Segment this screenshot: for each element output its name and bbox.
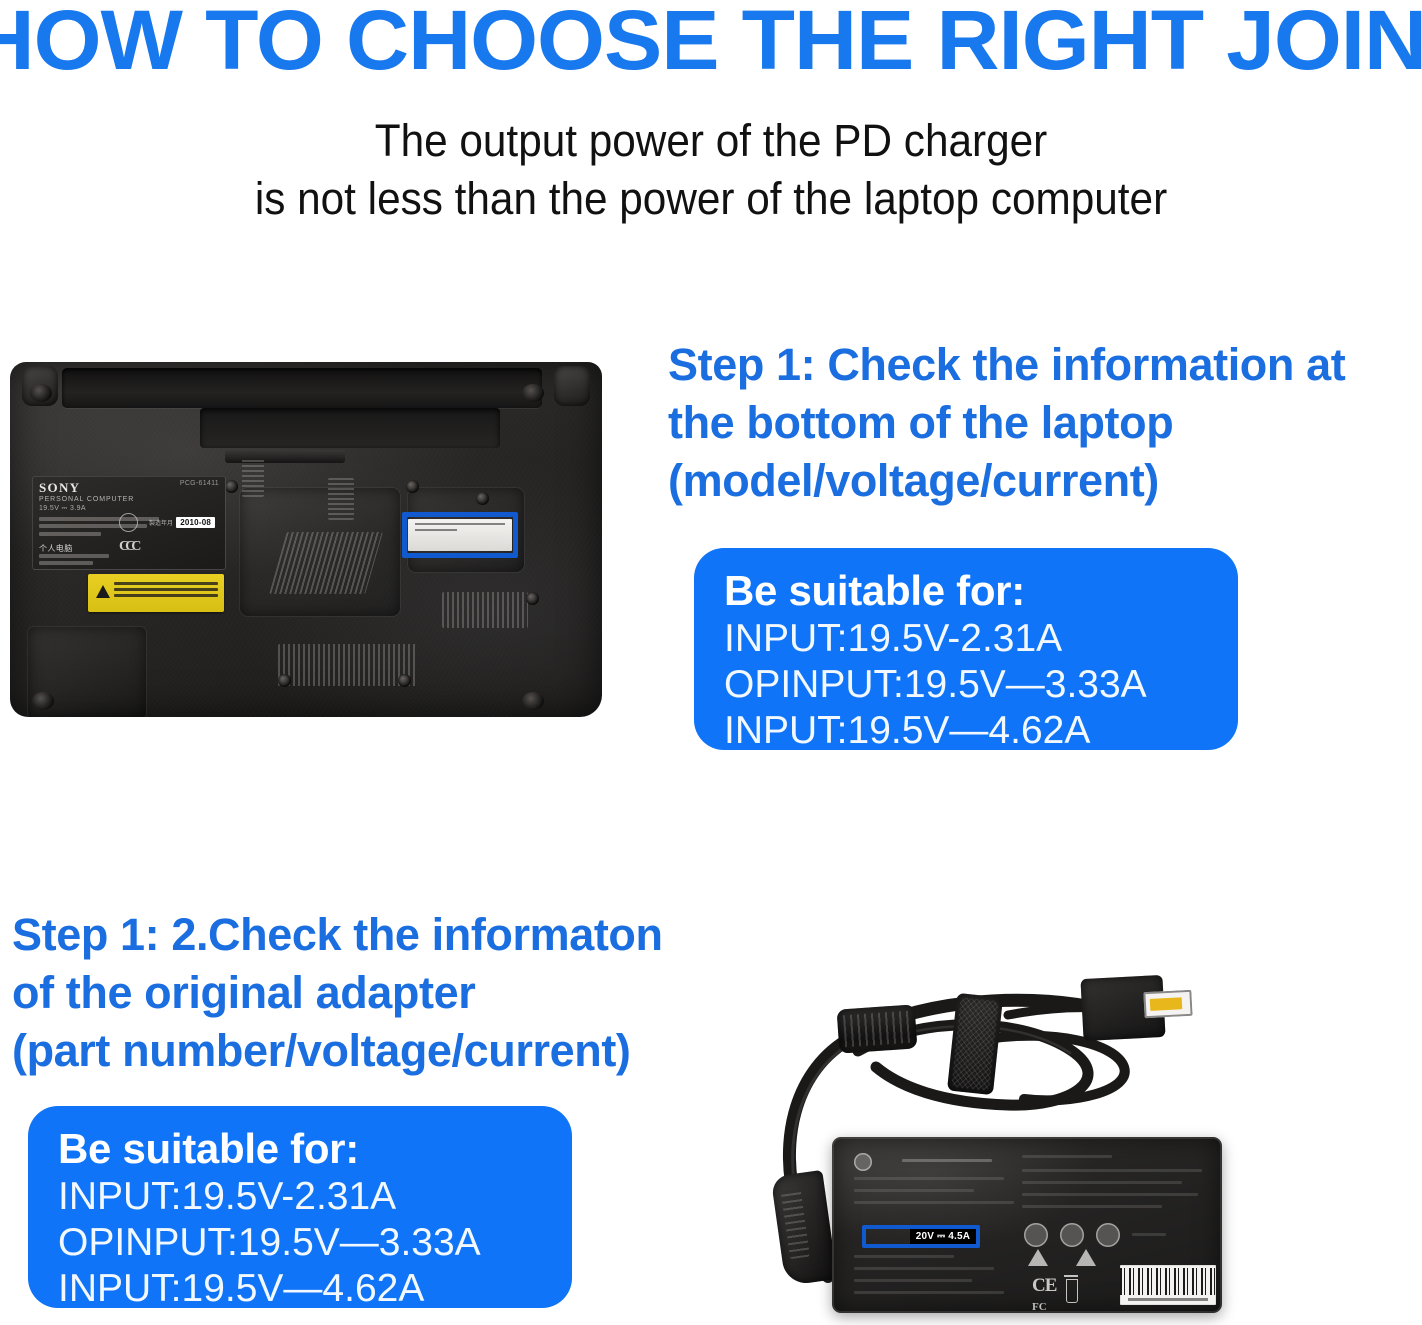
rubber-foot [30, 384, 52, 402]
brick-fineprint [854, 1279, 972, 1282]
step-1-box-title: Be suitable for: [724, 566, 1212, 616]
ce-mark-icon: CE [1032, 1275, 1056, 1297]
step-2-box-title: Be suitable for: [58, 1124, 546, 1174]
brick-fineprint [1132, 1233, 1166, 1236]
chassis-screw [476, 492, 489, 505]
brick-fineprint [1022, 1205, 1162, 1208]
brick-fineprint [854, 1189, 974, 1192]
safety-symbol-icon [1096, 1223, 1120, 1247]
subtitle-line-1: The output power of the PD charger [43, 112, 1380, 170]
caution-text-lines [114, 582, 218, 600]
chassis-screw [526, 592, 539, 605]
vent-grille [242, 457, 264, 497]
warning-triangle-icon [1076, 1249, 1096, 1266]
laptop-bottom-photo: SONY PCG-61411 PERSONAL COMPUTER 19.5V ⎓… [2, 352, 612, 724]
brick-fineprint [1022, 1155, 1112, 1158]
barcode [1120, 1265, 1216, 1305]
manufacture-date-caption: 製造年月 [149, 518, 173, 527]
safety-symbol-icon [1024, 1223, 1048, 1247]
adapter-spec-highlight-box [862, 1225, 980, 1248]
caution-sticker [88, 574, 224, 612]
step-2-heading-line-1: Step 1: 2.Check the informaton [12, 906, 752, 964]
brick-fineprint [902, 1159, 992, 1162]
step-1-suitable-box: Be suitable for: INPUT:19.5V-2.31A OPINP… [694, 548, 1238, 750]
ferrite-bead [837, 1004, 918, 1053]
warning-triangle-icon [1028, 1249, 1048, 1266]
label-locale-note: 个人电脑 [39, 543, 73, 554]
rubber-foot [32, 692, 54, 710]
brick-fineprint [1022, 1169, 1202, 1172]
brick-fineprint [854, 1255, 954, 1258]
rubber-foot [522, 384, 544, 402]
step-1-heading: Step 1: Check the information at the bot… [668, 336, 1422, 510]
chassis-screw [278, 674, 291, 687]
safety-symbol-icon [1060, 1223, 1084, 1247]
step-2-box-line-1: INPUT:19.5V-2.31A [58, 1174, 546, 1220]
manufacture-date-value: 2010-08 [176, 517, 215, 528]
chassis-screw [406, 480, 419, 493]
brick-fineprint [854, 1267, 994, 1270]
step-1-box-line-3: INPUT:19.5V—4.62A [724, 708, 1212, 754]
step-2-box-line-2: OPINPUT:19.5V—3.33A [58, 1220, 546, 1266]
laptop-chassis: SONY PCG-61411 PERSONAL COMPUTER 19.5V ⎓… [10, 362, 602, 717]
brick-fineprint [1022, 1193, 1198, 1196]
step-1-heading-line-2: the bottom of the laptop [668, 394, 1422, 452]
step-2-heading-line-2: of the original adapter [12, 964, 752, 1022]
label-fineprint [39, 532, 101, 536]
adapter-brick: CE FC 20V ⎓ 4.5A [832, 1137, 1222, 1313]
waste-bin-icon [1064, 1273, 1078, 1307]
laptop-voltage-current-text: 19.5V ⎓ 3.9A [39, 505, 86, 513]
sony-brand-text: SONY [39, 480, 80, 496]
chassis-screw [398, 674, 411, 687]
laptop-model-text: PCG-61411 [180, 480, 219, 487]
ac-adapter-photo: CE FC 20V ⎓ 4.5A [772, 955, 1420, 1323]
vent-grille [269, 532, 383, 594]
chassis-screw [225, 480, 238, 493]
vent-grille [442, 592, 528, 628]
certification-mark-icon [119, 513, 138, 532]
slim-tip-connector-icon [1143, 990, 1192, 1018]
brick-fineprint [854, 1201, 1014, 1204]
step-2-box-line-3: INPUT:19.5V—4.62A [58, 1266, 546, 1312]
step-1-heading-line-3: (model/voltage/current) [668, 452, 1422, 510]
label-fineprint [39, 561, 93, 565]
step-1-box-line-2: OPINPUT:19.5V—3.33A [724, 662, 1212, 708]
hinge-bar [62, 368, 542, 408]
ccc-mark-icon: CCC [119, 539, 137, 555]
brick-fineprint [854, 1291, 1004, 1294]
step-1-heading-line-1: Step 1: Check the information at [668, 336, 1422, 394]
step-1-box-line-1: INPUT:19.5V-2.31A [724, 616, 1212, 662]
vent-grille [328, 478, 354, 520]
service-tag-highlight-box [402, 512, 518, 558]
laptop-rating-label: SONY PCG-61411 PERSONAL COMPUTER 19.5V ⎓… [32, 476, 226, 570]
brick-fineprint [1022, 1181, 1182, 1184]
fcc-mark-icon: FC [1032, 1301, 1047, 1313]
step-2-suitable-box: Be suitable for: INPUT:19.5V-2.31A OPINP… [28, 1106, 572, 1308]
label-fineprint [39, 517, 159, 521]
warning-triangle-icon [96, 585, 110, 598]
battery-slot [200, 408, 500, 448]
step-2-heading: Step 1: 2.Check the informaton of the or… [12, 906, 752, 1080]
page-title: HOW TO CHOOSE THE RIGHT JOINT [0, 0, 1422, 84]
manufacturer-logo-icon [854, 1153, 872, 1171]
brick-fineprint [854, 1177, 1004, 1180]
hinge-cap-right [554, 366, 590, 406]
label-fineprint [39, 554, 109, 558]
page-subtitle: The output power of the PD charger is no… [43, 112, 1380, 228]
laptop-label-subtitle: PERSONAL COMPUTER [39, 496, 134, 503]
subtitle-line-2: is not less than the power of the laptop… [43, 170, 1380, 228]
vent-grille [278, 644, 418, 686]
rubber-foot [522, 692, 544, 710]
step-2-heading-line-3: (part number/voltage/current) [12, 1022, 752, 1080]
